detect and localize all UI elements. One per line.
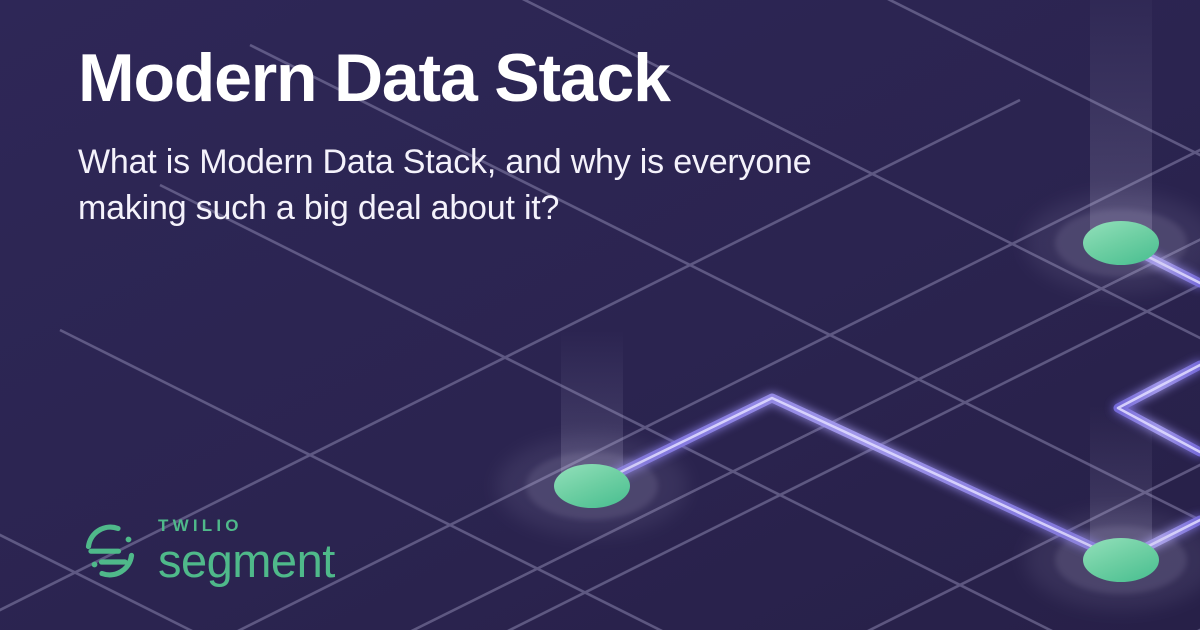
logo-segment-text: segment <box>158 536 335 585</box>
page-title: Modern Data Stack <box>78 44 938 112</box>
logo-wordmark: TWILIO segment <box>158 517 335 585</box>
og-card: Modern Data Stack What is Modern Data St… <box>0 0 1200 630</box>
logo-twilio-text: TWILIO <box>158 517 335 534</box>
headline-block: Modern Data Stack What is Modern Data St… <box>78 44 938 231</box>
twilio-segment-logo[interactable]: TWILIO segment <box>78 517 335 585</box>
node-center <box>496 436 688 536</box>
segment-logo-mark-icon <box>78 519 142 583</box>
page-subtitle: What is Modern Data Stack, and why is ev… <box>78 140 878 231</box>
